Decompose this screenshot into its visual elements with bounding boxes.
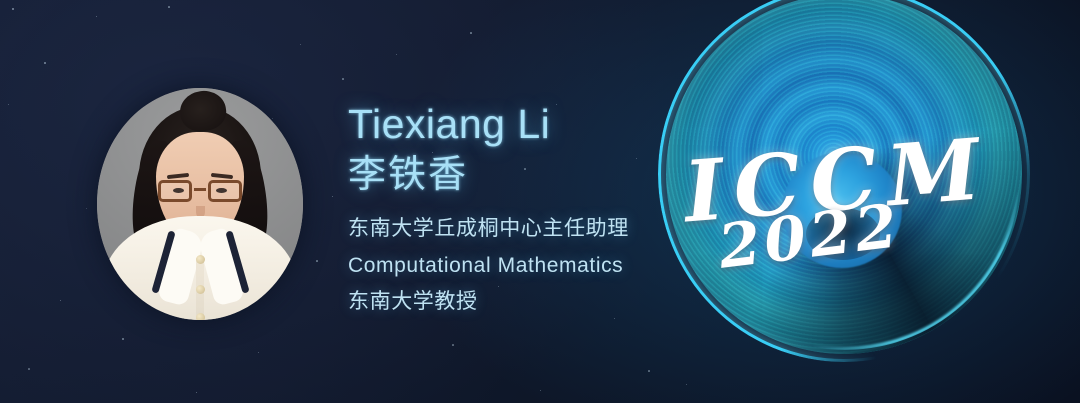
- star-dot: [44, 62, 46, 64]
- star-dot: [686, 384, 687, 385]
- star-dot: [12, 8, 14, 10]
- logo-lettering: ICCM 2022: [666, 0, 1022, 403]
- star-dot: [300, 44, 301, 45]
- star-dot: [470, 32, 472, 34]
- star-dot: [86, 208, 87, 209]
- avatar: [97, 88, 303, 320]
- logo-vortex-core: [666, 0, 1022, 354]
- star-dot: [122, 338, 124, 340]
- logo-spiral-rings: [666, 0, 1022, 354]
- star-dot: [168, 6, 170, 8]
- star-dot: [396, 54, 397, 55]
- star-dot: [196, 392, 197, 393]
- star-dot: [342, 78, 344, 80]
- speaker-affiliations: 东南大学丘成桐中心主任助理 Computational Mathematics …: [348, 211, 698, 321]
- star-dot: [28, 368, 30, 370]
- logo-title-text: ICCM: [681, 118, 1008, 242]
- glasses-lens-right: [208, 180, 242, 202]
- speaker-info: Tiexiang Li 李铁香 东南大学丘成桐中心主任助理 Computatio…: [348, 104, 698, 321]
- star-dot: [258, 352, 259, 353]
- jacket-button: [196, 313, 205, 320]
- jacket-button: [196, 255, 205, 264]
- affiliation-line: Computational Mathematics: [348, 248, 698, 285]
- speaker-banner: Tiexiang Li 李铁香 东南大学丘成桐中心主任助理 Computatio…: [0, 0, 1080, 403]
- logo-bottom-swoosh: [670, 0, 1020, 350]
- star-dot: [452, 344, 454, 346]
- glasses-icon: [157, 180, 243, 204]
- logo-shadow-wedge: [666, 0, 1022, 354]
- glasses-lens-left: [158, 180, 192, 202]
- star-dot: [332, 196, 333, 197]
- jacket-button: [196, 285, 205, 294]
- logo-vortex-eye-shadow: [806, 208, 880, 260]
- speaker-name-english: Tiexiang Li: [348, 104, 698, 145]
- star-dot: [96, 16, 97, 17]
- speaker-photo: [97, 88, 303, 320]
- logo-year-text: 2022: [715, 179, 1001, 283]
- star-dot: [648, 370, 650, 372]
- star-dot: [8, 104, 9, 105]
- logo-outer-rim: [658, 0, 1030, 362]
- iccm-logo: ICCM 2022: [666, 0, 1022, 403]
- star-dot: [540, 390, 541, 391]
- star-dot: [60, 300, 61, 301]
- affiliation-line: 东南大学教授: [348, 284, 698, 321]
- affiliation-line: 东南大学丘成桐中心主任助理: [348, 211, 698, 248]
- star-dot: [316, 260, 318, 262]
- logo-vortex-eye: [782, 152, 902, 268]
- glasses-bridge: [194, 188, 206, 191]
- speaker-name-chinese: 李铁香: [348, 155, 698, 197]
